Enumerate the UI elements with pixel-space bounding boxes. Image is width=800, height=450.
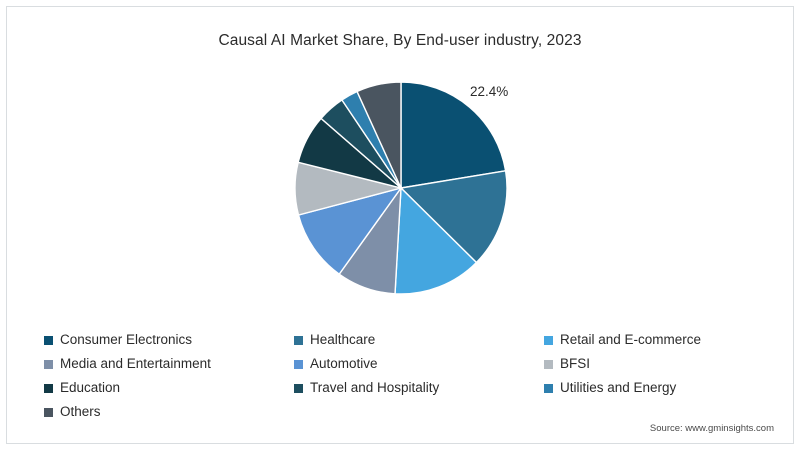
legend-label: Healthcare	[310, 333, 375, 347]
legend-item[interactable]: Automotive	[294, 357, 544, 371]
chart-legend: Consumer ElectronicsHealthcareRetail and…	[44, 328, 760, 424]
chart-canvas: Causal AI Market Share, By End-user indu…	[0, 0, 800, 450]
legend-label: Travel and Hospitality	[310, 381, 439, 395]
legend-swatch-icon	[294, 336, 303, 345]
legend-item[interactable]: Others	[44, 405, 294, 419]
legend-swatch-icon	[44, 384, 53, 393]
legend-item[interactable]: Consumer Electronics	[44, 333, 294, 347]
legend-item[interactable]: Retail and E-commerce	[544, 333, 760, 347]
legend-label: Retail and E-commerce	[560, 333, 701, 347]
legend-item[interactable]: Travel and Hospitality	[294, 381, 544, 395]
legend-label: Consumer Electronics	[60, 333, 192, 347]
legend-label: Automotive	[310, 357, 378, 371]
pie-slice-group	[295, 82, 507, 294]
legend-swatch-icon	[44, 408, 53, 417]
legend-label: Media and Entertainment	[60, 357, 211, 371]
legend-label: Education	[60, 381, 120, 395]
legend-item[interactable]: BFSI	[544, 357, 760, 371]
legend-label: Others	[60, 405, 101, 419]
pie-svg	[283, 82, 519, 294]
page-title: Causal AI Market Share, By End-user indu…	[0, 32, 800, 50]
legend-swatch-icon	[294, 360, 303, 369]
legend-label: Utilities and Energy	[560, 381, 676, 395]
legend-swatch-icon	[294, 384, 303, 393]
legend-swatch-icon	[544, 360, 553, 369]
legend-item[interactable]: Healthcare	[294, 333, 544, 347]
legend-item[interactable]: Utilities and Energy	[544, 381, 760, 395]
legend-swatch-icon	[44, 336, 53, 345]
legend-item[interactable]: Media and Entertainment	[44, 357, 294, 371]
legend-swatch-icon	[44, 360, 53, 369]
legend-swatch-icon	[544, 336, 553, 345]
source-attribution: Source: www.gminsights.com	[650, 423, 774, 434]
legend-swatch-icon	[544, 384, 553, 393]
slice-value-label-consumer-electronics: 22.4%	[470, 84, 508, 99]
pie-chart	[283, 82, 519, 294]
legend-item[interactable]: Education	[44, 381, 294, 395]
legend-label: BFSI	[560, 357, 590, 371]
